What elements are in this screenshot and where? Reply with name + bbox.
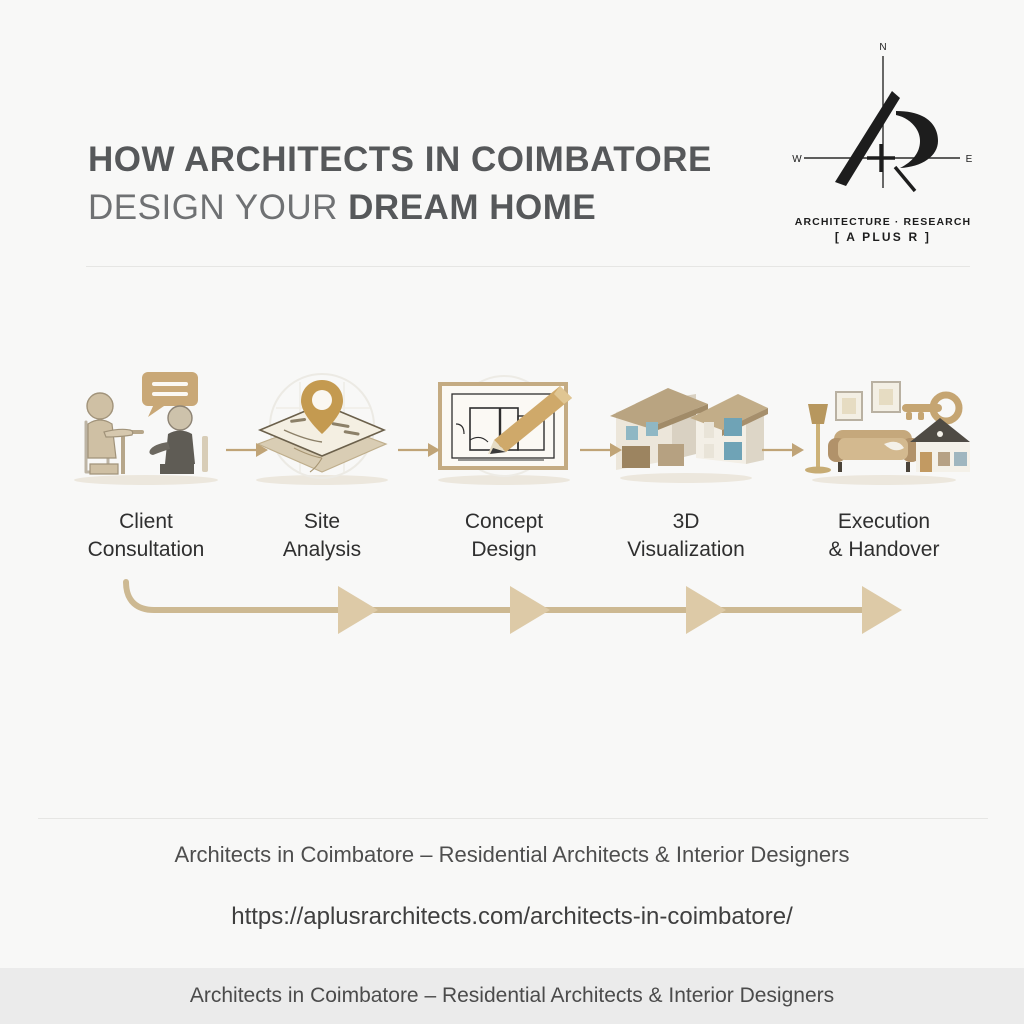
header-divider [86, 266, 970, 267]
step-site-analysis[interactable]: Site Analysis [232, 368, 412, 568]
bottom-bar: Architects in Coimbatore – Residential A… [0, 968, 1024, 1024]
step-label-line2: Analysis [283, 538, 361, 561]
header: HOW ARCHITECTS IN COIMBATORE DESIGN YOUR… [0, 0, 1024, 270]
title-line-2-strong-text: DREAM HOME [348, 188, 596, 227]
title-line-2: DESIGN YOUR DREAM HOME [88, 184, 712, 232]
logo-brand: [ A PLUS R ] [788, 230, 978, 244]
footer-divider [38, 818, 988, 819]
house-3d-icon [596, 368, 776, 488]
step-label-line1: Client [119, 510, 173, 533]
a-plus-r-compass-icon: N W E [788, 36, 978, 216]
title-line-1: HOW ARCHITECTS IN COIMBATORE [88, 136, 712, 184]
interior-keys-icon [794, 368, 974, 488]
step-label-line1: Execution [838, 510, 930, 533]
footer-caption: Architects in Coimbatore – Residential A… [0, 842, 1024, 868]
connector-arrow-1 [224, 438, 270, 462]
process-steps: Client Consultation [0, 368, 1024, 568]
step-label-line2: & Handover [829, 538, 940, 561]
step-label-line1: Concept [465, 510, 543, 533]
site-map-pin-icon [232, 368, 412, 488]
connector-arrow-4 [760, 438, 806, 462]
step-label-execution-handover: Execution & Handover [794, 508, 974, 564]
footer-url[interactable]: https://aplusrarchitects.com/architects-… [0, 903, 1024, 931]
step-label-line1: 3D [673, 510, 700, 533]
connector-arrow-2 [396, 438, 442, 462]
step-3d-visualization[interactable]: 3D Visualization [596, 368, 776, 568]
title-line-1-text: HOW ARCHITECTS IN COIMBATORE [88, 140, 712, 179]
step-concept-design[interactable]: Concept Design [414, 368, 594, 568]
step-label-line1: Site [304, 510, 340, 533]
brand-logo: N W E ARCHITECTURE · RESEARCH [ A PLUS R… [788, 36, 978, 256]
process-timeline [120, 578, 910, 638]
step-label-concept-design: Concept Design [414, 508, 594, 564]
timeline-arrowhead-2 [510, 586, 550, 634]
infographic-page: HOW ARCHITECTS IN COIMBATORE DESIGN YOUR… [0, 0, 1024, 1024]
bottom-bar-text: Architects in Coimbatore – Residential A… [190, 984, 834, 1008]
svg-text:E: E [966, 154, 973, 165]
timeline-arrowhead-3 [686, 586, 726, 634]
timeline-arrowhead-1 [338, 586, 378, 634]
timeline-arrowhead-4 [862, 586, 902, 634]
logo-wordmark: ARCHITECTURE · RESEARCH [ A PLUS R ] [788, 216, 978, 244]
step-label-client-consultation: Client Consultation [56, 508, 236, 564]
logo-tagline: ARCHITECTURE · RESEARCH [788, 216, 978, 228]
consultation-icon [56, 368, 236, 488]
svg-text:N: N [879, 42, 886, 53]
step-client-consultation[interactable]: Client Consultation [56, 368, 236, 568]
step-label-line2: Consultation [88, 538, 205, 561]
blueprint-pencil-icon [414, 368, 594, 488]
step-label-line2: Design [471, 538, 536, 561]
connector-arrow-3 [578, 438, 624, 462]
svg-text:W: W [792, 154, 802, 165]
step-label-3d-visualization: 3D Visualization [596, 508, 776, 564]
step-execution-handover[interactable]: Execution & Handover [794, 368, 974, 568]
step-label-site-analysis: Site Analysis [232, 508, 412, 564]
step-label-line2: Visualization [627, 538, 745, 561]
title-line-2-light-text: DESIGN YOUR [88, 188, 348, 227]
page-title: HOW ARCHITECTS IN COIMBATORE DESIGN YOUR… [88, 136, 712, 232]
